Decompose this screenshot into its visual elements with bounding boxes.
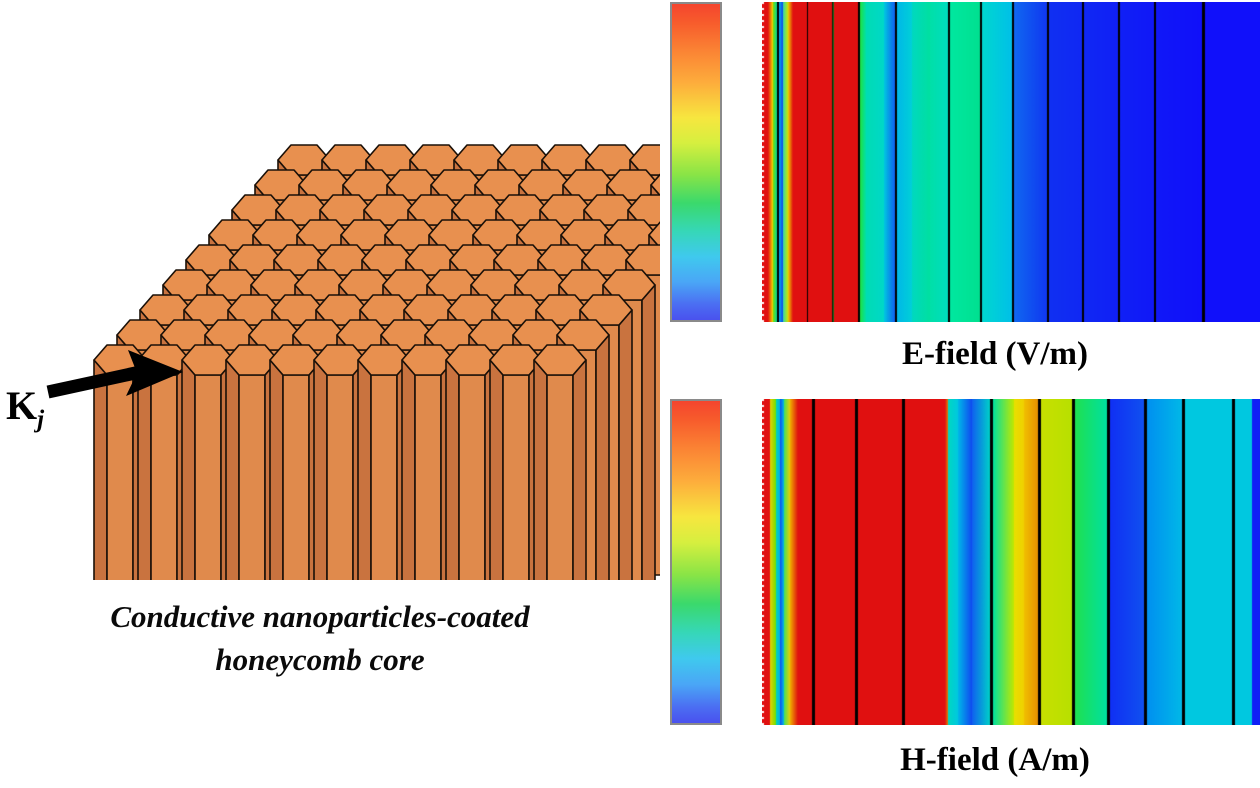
honeycomb-facet	[182, 360, 195, 600]
honeycomb-facet	[94, 360, 107, 600]
wavevector-symbol: K	[6, 383, 37, 428]
honeycomb-facet	[195, 375, 221, 600]
fieldmap-efield-canvas	[762, 2, 1260, 322]
fieldmap-hfield	[762, 399, 1260, 725]
honeycomb-facet	[573, 360, 586, 600]
honeycomb-caption: Conductive nanoparticles-coated honeycom…	[0, 596, 640, 682]
label-efield: E-field (V/m)	[780, 336, 1210, 373]
honeycomb-facet	[371, 375, 397, 600]
honeycomb-facet	[151, 375, 177, 600]
fieldmap-efield	[762, 2, 1260, 322]
honeycomb-facet	[459, 375, 485, 600]
colorbar-efield-gradient	[672, 4, 720, 320]
honeycomb-facet	[503, 375, 529, 600]
colorbar-hfield	[670, 399, 722, 725]
honeycomb-facet	[596, 335, 609, 600]
caption-line-1: Conductive nanoparticles-coated	[0, 596, 640, 639]
wavevector-label: Kj	[6, 386, 44, 432]
colorbar-hfield-gradient	[672, 401, 720, 723]
label-hfield: H-field (A/m)	[780, 742, 1210, 779]
caption-line-2: honeycomb core	[0, 639, 640, 682]
honeycomb-facet	[534, 360, 547, 600]
honeycomb-facet	[415, 375, 441, 600]
wavevector-subscript: j	[37, 406, 44, 433]
honeycomb-facet	[314, 360, 327, 600]
figure-root: Kj Conductive nanoparticles-coated honey…	[0, 0, 1260, 788]
honeycomb-facet	[402, 360, 415, 600]
honeycomb-facet	[547, 375, 573, 600]
honeycomb-facet	[283, 375, 309, 600]
honeycomb-facet	[107, 375, 133, 600]
fieldmap-hfield-canvas	[762, 399, 1260, 725]
honeycomb-facet	[358, 360, 371, 600]
honeycomb-facet	[270, 360, 283, 600]
honeycomb-facet	[138, 360, 151, 600]
honeycomb-facet	[490, 360, 503, 600]
honeycomb-facet	[226, 360, 239, 600]
honeycomb-facet	[642, 285, 655, 600]
colorbar-efield	[670, 2, 722, 322]
honeycomb-facet	[446, 360, 459, 600]
honeycomb-facet	[619, 310, 632, 600]
honeycomb-facet	[239, 375, 265, 600]
honeycomb-core-illustration	[0, 0, 660, 600]
honeycomb-panel: Kj Conductive nanoparticles-coated honey…	[0, 0, 660, 788]
honeycomb-facet	[327, 375, 353, 600]
